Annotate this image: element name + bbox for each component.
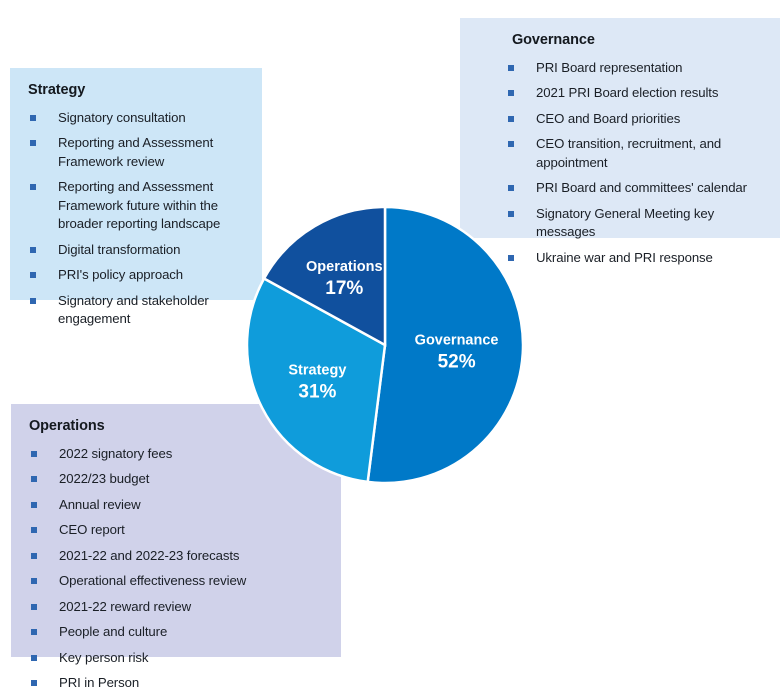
- strategy-info-box: Strategy Signatory consultation Reportin…: [10, 68, 262, 300]
- square-bullet-icon: [508, 90, 514, 96]
- list-item: 2021-22 reward review: [25, 598, 323, 616]
- pie-chart: Governance 52% Strategy 31% Operations 1…: [245, 205, 525, 485]
- list-item: 2021-22 and 2022-23 forecasts: [25, 547, 323, 565]
- square-bullet-icon: [508, 65, 514, 71]
- list-item-label: PRI in Person: [59, 675, 139, 690]
- list-item-label: PRI's policy approach: [58, 267, 183, 282]
- list-item: Signatory consultation: [24, 109, 244, 127]
- square-bullet-icon: [30, 140, 36, 146]
- square-bullet-icon: [31, 476, 37, 482]
- pie-label-governance-name: Governance: [415, 333, 499, 349]
- square-bullet-icon: [30, 184, 36, 190]
- list-item: Reporting and Assessment Framework futur…: [24, 178, 244, 233]
- list-item-label: Signatory consultation: [58, 110, 186, 125]
- list-item-label: Operational effectiveness review: [59, 573, 246, 588]
- list-item: Annual review: [25, 496, 323, 514]
- square-bullet-icon: [30, 298, 36, 304]
- list-item: People and culture: [25, 623, 323, 641]
- square-bullet-icon: [31, 578, 37, 584]
- list-item: Digital transformation: [24, 241, 244, 259]
- square-bullet-icon: [31, 655, 37, 661]
- pie-label-strategy-name: Strategy: [288, 363, 346, 379]
- list-item-label: PRI Board and committees' calendar: [536, 180, 747, 195]
- square-bullet-icon: [30, 247, 36, 253]
- pie-chart-svg: Governance 52% Strategy 31% Operations 1…: [245, 205, 525, 485]
- pie-label-governance-pct: 52%: [438, 352, 476, 373]
- list-item-label: Ukraine war and PRI response: [536, 250, 713, 265]
- square-bullet-icon: [31, 502, 37, 508]
- square-bullet-icon: [30, 115, 36, 121]
- list-item-label: CEO transition, recruitment, and appoint…: [536, 136, 721, 169]
- square-bullet-icon: [508, 116, 514, 122]
- list-item: Key person risk: [25, 649, 323, 667]
- list-item: PRI Board representation: [474, 59, 762, 77]
- list-item-label: Reporting and Assessment Framework futur…: [58, 179, 220, 231]
- pie-label-operations-name: Operations: [306, 259, 383, 275]
- square-bullet-icon: [508, 141, 514, 147]
- list-item-label: 2021-22 and 2022-23 forecasts: [59, 548, 239, 563]
- governance-box-title: Governance: [512, 32, 762, 48]
- square-bullet-icon: [31, 629, 37, 635]
- strategy-bullet-list: Signatory consultation Reporting and Ass…: [24, 109, 244, 329]
- list-item: Operational effectiveness review: [25, 572, 323, 590]
- list-item-label: Annual review: [59, 497, 141, 512]
- square-bullet-icon: [31, 553, 37, 559]
- square-bullet-icon: [31, 604, 37, 610]
- square-bullet-icon: [31, 680, 37, 686]
- list-item-label: 2022/23 budget: [59, 471, 149, 486]
- list-item: PRI Board and committees' calendar: [474, 179, 762, 197]
- square-bullet-icon: [508, 185, 514, 191]
- list-item-label: 2021-22 reward review: [59, 599, 191, 614]
- pie-label-operations-pct: 17%: [325, 278, 363, 299]
- list-item-label: People and culture: [59, 624, 167, 639]
- list-item-label: CEO report: [59, 522, 125, 537]
- strategy-box-title: Strategy: [28, 82, 244, 98]
- square-bullet-icon: [31, 451, 37, 457]
- list-item: CEO transition, recruitment, and appoint…: [474, 135, 762, 172]
- list-item: Signatory and stakeholder engagement: [24, 292, 244, 329]
- list-item-label: 2021 PRI Board election results: [536, 85, 718, 100]
- square-bullet-icon: [30, 272, 36, 278]
- list-item-label: Digital transformation: [58, 242, 180, 257]
- list-item: CEO report: [25, 521, 323, 539]
- list-item: PRI's policy approach: [24, 266, 244, 284]
- list-item-label: CEO and Board priorities: [536, 111, 680, 126]
- pie-label-strategy-pct: 31%: [298, 382, 336, 403]
- list-item: CEO and Board priorities: [474, 110, 762, 128]
- list-item: Reporting and Assessment Framework revie…: [24, 134, 244, 171]
- slide-canvas: Strategy Signatory consultation Reportin…: [0, 0, 780, 684]
- square-bullet-icon: [31, 527, 37, 533]
- list-item-label: Signatory General Meeting key messages: [536, 206, 714, 239]
- list-item-label: Reporting and Assessment Framework revie…: [58, 135, 213, 168]
- list-item-label: Key person risk: [59, 650, 148, 665]
- list-item: 2021 PRI Board election results: [474, 84, 762, 102]
- list-item-label: 2022 signatory fees: [59, 446, 172, 461]
- list-item-label: Signatory and stakeholder engagement: [58, 293, 209, 326]
- list-item-label: PRI Board representation: [536, 60, 682, 75]
